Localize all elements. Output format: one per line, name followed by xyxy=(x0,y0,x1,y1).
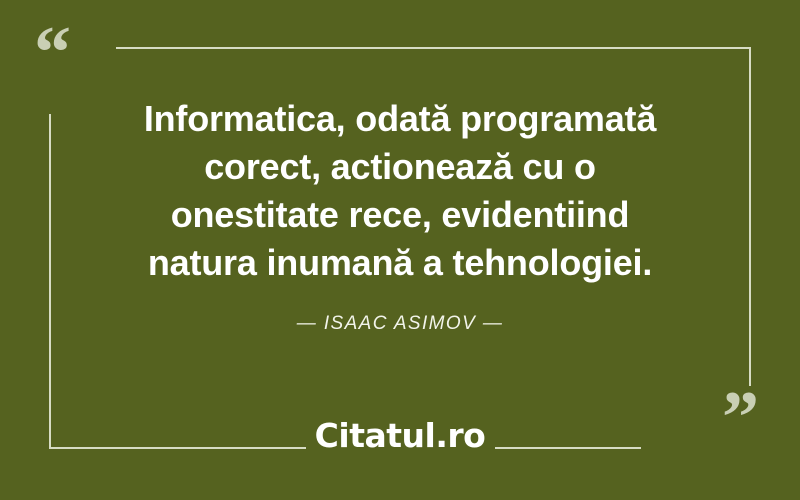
frame-line-bottom-left xyxy=(49,447,306,449)
frame-line-bottom-right xyxy=(495,447,641,449)
quote-line: corect, actionează cu o xyxy=(80,143,720,191)
open-quote-icon: “ xyxy=(34,16,71,90)
quote-text: Informatica, odată programată corect, ac… xyxy=(80,95,720,287)
quote-attribution: — ISAAC ASIMOV — xyxy=(297,313,503,335)
frame-line-left xyxy=(49,114,51,449)
brand-logo[interactable]: Citatul.ro xyxy=(315,419,486,452)
frame-line-top xyxy=(116,47,751,49)
quote-line: onestitate rece, evidentiind xyxy=(80,191,720,239)
quote-content: Informatica, odată programată corect, ac… xyxy=(60,95,740,335)
close-quote-icon: ” xyxy=(722,381,759,455)
quote-line: natura inumană a tehnologiei. xyxy=(80,239,720,287)
frame-line-right xyxy=(749,47,751,386)
quote-line: Informatica, odată programată xyxy=(80,95,720,143)
quote-card: “ ” Informatica, odată programată corect… xyxy=(0,0,800,500)
